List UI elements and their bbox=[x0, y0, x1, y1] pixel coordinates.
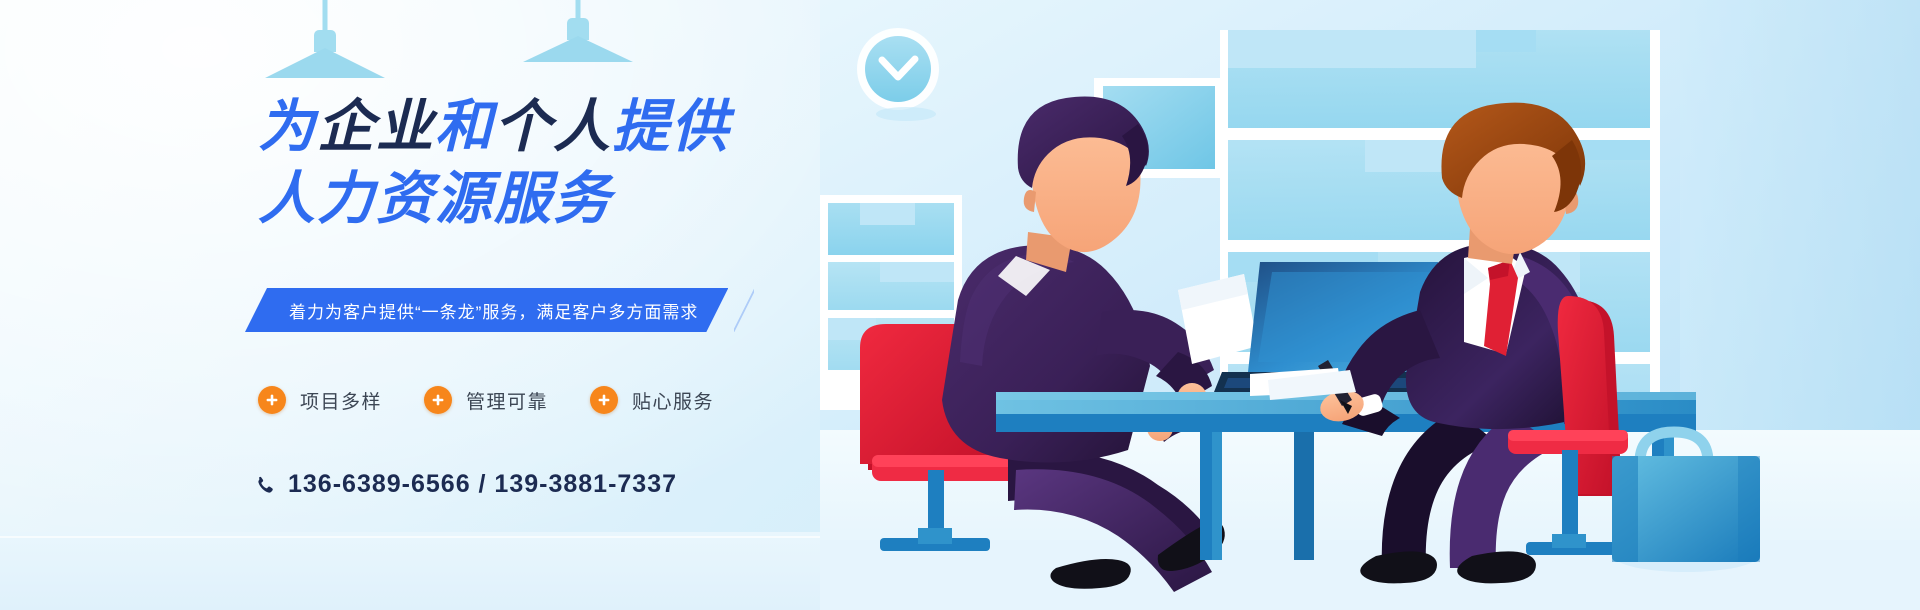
headline-seg-1: 为 bbox=[258, 95, 317, 159]
phone-icon bbox=[255, 475, 275, 495]
headline-seg-5: 提供 bbox=[612, 95, 730, 159]
headline-seg-4: 个人 bbox=[494, 95, 612, 159]
feature-list: 项目多样 管理可靠 贴心服务 bbox=[258, 386, 714, 414]
headline: 为企业和个人提供 人力资源服务 bbox=[258, 93, 730, 233]
subtitle-text: 着力为客户提供“一条龙”服务，满足客户多方面需求 bbox=[245, 288, 728, 332]
plus-icon bbox=[424, 386, 452, 414]
headline-seg-3: 和 bbox=[435, 95, 494, 159]
office-interview-illustration bbox=[820, 0, 1920, 610]
feature-item[interactable]: 贴心服务 bbox=[590, 386, 714, 414]
plus-icon bbox=[258, 386, 286, 414]
feature-item[interactable]: 管理可靠 bbox=[424, 386, 548, 414]
headline-line1: 为企业和个人提供 bbox=[258, 95, 730, 159]
feature-item[interactable]: 项目多样 bbox=[258, 386, 382, 414]
copy-column: 为企业和个人提供 人力资源服务 着力为客户提供“一条龙”服务，满足客户多方面需求… bbox=[0, 0, 820, 610]
hero-banner: 为企业和个人提供 人力资源服务 着力为客户提供“一条龙”服务，满足客户多方面需求… bbox=[0, 0, 1920, 610]
feature-label: 项目多样 bbox=[300, 387, 382, 414]
plus-icon bbox=[590, 386, 618, 414]
feature-label: 管理可靠 bbox=[466, 387, 548, 414]
headline-seg-2: 企业 bbox=[317, 95, 435, 159]
headline-line2: 人力资源服务 bbox=[258, 165, 730, 233]
contact-phone[interactable]: 136-6389-6566 / 139-3881-7337 bbox=[255, 470, 677, 499]
ribbon-tail bbox=[734, 288, 754, 332]
subtitle-ribbon: 着力为客户提供“一条龙”服务，满足客户多方面需求 bbox=[245, 288, 728, 332]
feature-label: 贴心服务 bbox=[632, 387, 714, 414]
phone-number: 136-6389-6566 / 139-3881-7337 bbox=[288, 470, 677, 499]
